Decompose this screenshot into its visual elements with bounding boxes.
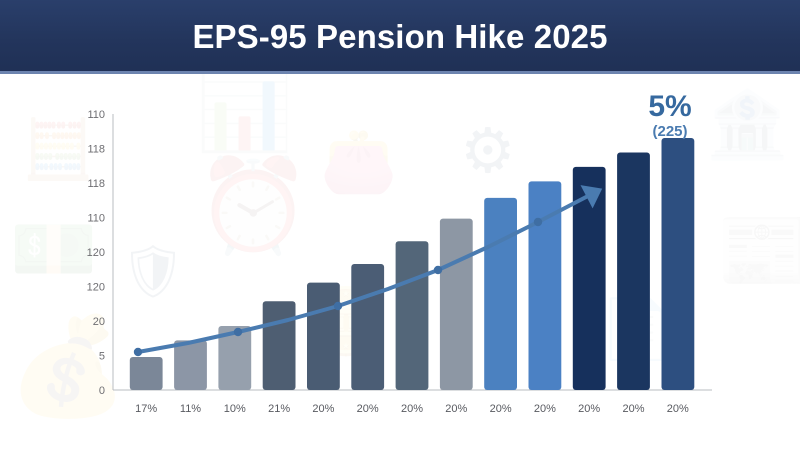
- x-axis-tick-label: 20%: [534, 403, 556, 415]
- header-band: EPS-95 Pension Hike 2025: [0, 0, 800, 74]
- x-axis-tick-label: 20%: [622, 403, 644, 415]
- bar: [662, 138, 695, 390]
- bar: [130, 357, 163, 390]
- y-axis-tick-label: 0: [99, 385, 105, 397]
- bar: [307, 283, 340, 390]
- bar: [396, 241, 429, 390]
- bar-chart-svg: 1101181181101201202050 17%11%10%21%20%20…: [0, 74, 800, 450]
- x-axis-tick-labels: 17%11%10%21%20%20%20%20%20%20%20%20%20%: [135, 403, 689, 415]
- x-axis-tick-label: 21%: [268, 403, 290, 415]
- x-axis-tick-label: 20%: [667, 403, 689, 415]
- trend-marker: [334, 302, 342, 310]
- callout-group: 5% (225): [648, 90, 691, 140]
- page-title: EPS-95 Pension Hike 2025: [192, 18, 607, 56]
- x-axis-tick-label: 20%: [445, 403, 467, 415]
- trend-marker: [434, 266, 442, 274]
- bars-group: [130, 138, 695, 390]
- infographic-canvas: 💰📊⏰🪙👛📰🏦💵🧮⚙📄🛡 EPS-95 Pension Hike 2025 11…: [0, 0, 800, 450]
- y-axis-tick-label: 110: [87, 109, 105, 121]
- callout-value: (225): [652, 123, 687, 140]
- y-axis-tick-labels: 1101181181101201202050: [87, 109, 105, 397]
- x-axis-tick-label: 17%: [135, 403, 157, 415]
- y-axis-tick-label: 118: [87, 178, 105, 190]
- y-axis-tick-label: 20: [93, 316, 105, 328]
- x-axis-tick-label: 11%: [180, 403, 201, 415]
- callout-percent: 5%: [648, 90, 691, 123]
- x-axis-tick-label: 20%: [401, 403, 423, 415]
- chart-area: 1101181181101201202050 17%11%10%21%20%20…: [0, 74, 800, 450]
- trend-marker: [134, 348, 142, 356]
- x-axis-tick-label: 20%: [357, 403, 379, 415]
- bar: [351, 264, 384, 390]
- y-axis-tick-label: 118: [87, 144, 105, 156]
- bar: [174, 340, 207, 390]
- trend-marker: [534, 218, 542, 226]
- trend-marker: [234, 328, 242, 336]
- bar: [617, 153, 650, 391]
- x-axis-tick-label: 20%: [578, 403, 600, 415]
- y-axis-tick-label: 5: [99, 351, 105, 363]
- y-axis-tick-label: 110: [87, 213, 105, 225]
- y-axis-tick-label: 120: [87, 247, 105, 259]
- bar: [440, 219, 473, 390]
- x-axis-tick-label: 10%: [224, 403, 246, 415]
- bar: [484, 198, 517, 390]
- y-axis-tick-label: 120: [87, 282, 105, 294]
- bar: [263, 301, 296, 390]
- x-axis-tick-label: 20%: [312, 403, 334, 415]
- x-axis-tick-label: 20%: [490, 403, 512, 415]
